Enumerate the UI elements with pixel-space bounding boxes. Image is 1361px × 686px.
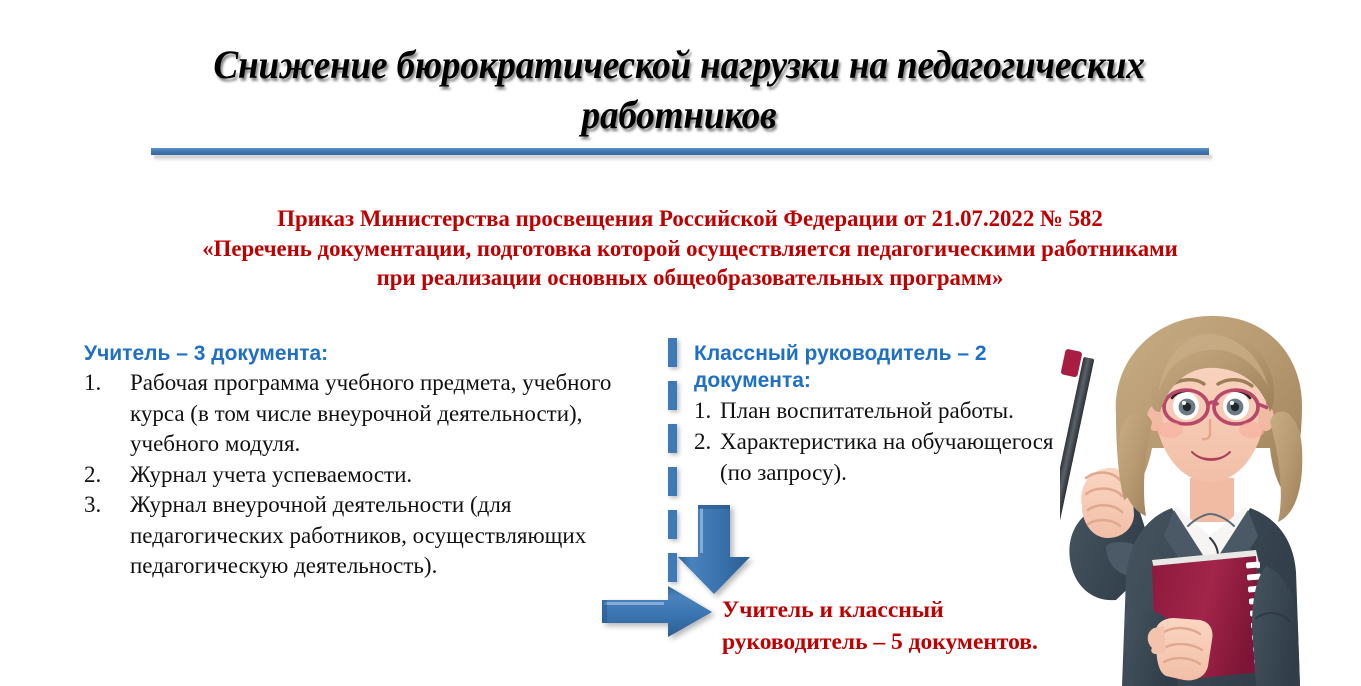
order-reference-subtitle: Приказ Министерства просвещения Российск… bbox=[118, 205, 1263, 294]
list-item-text: Журнал внеурочной деятельности (для педа… bbox=[130, 492, 586, 578]
list-item-number: 2. bbox=[84, 460, 112, 491]
title-divider-shadow bbox=[154, 155, 1212, 161]
list-item-number: 3. bbox=[84, 490, 112, 521]
list-item: 2. Характеристика на обучающегося (по за… bbox=[694, 426, 1066, 488]
list-item-number: 2. bbox=[694, 426, 711, 457]
page-title: Снижение бюрократической нагрузки на пед… bbox=[187, 40, 1171, 140]
class-teacher-column-heading: Классный руководитель – 2 документа: bbox=[694, 340, 1066, 394]
arrow-right-icon bbox=[602, 586, 714, 638]
title-divider bbox=[151, 148, 1209, 155]
list-item: 1. Рабочая программа учебного предмета, … bbox=[84, 368, 614, 460]
list-item: 1. План воспитательной работы. bbox=[694, 395, 1066, 426]
list-item: 2. Журнал учета успеваемости. bbox=[84, 460, 614, 491]
list-item-number: 1. bbox=[84, 368, 112, 399]
teacher-documents-list: 1. Рабочая программа учебного предмета, … bbox=[84, 368, 614, 582]
list-item-number: 1. bbox=[694, 395, 711, 426]
list-item-text: Журнал учета успеваемости. bbox=[130, 462, 412, 487]
list-item-text: Рабочая программа учебного предмета, уче… bbox=[130, 370, 611, 456]
list-item-text: Характеристика на обучающегося (по запро… bbox=[720, 429, 1054, 485]
teacher-documents-column: Учитель – 3 документа: 1. Рабочая програ… bbox=[84, 340, 614, 582]
class-teacher-documents-column: Классный руководитель – 2 документа: 1. … bbox=[694, 340, 1066, 488]
arrow-down-icon bbox=[676, 505, 752, 595]
teacher-illustration bbox=[1060, 310, 1361, 686]
class-teacher-documents-list: 1. План воспитательной работы. 2. Характ… bbox=[694, 395, 1066, 488]
teacher-column-heading: Учитель – 3 документа: bbox=[84, 340, 614, 367]
slide-canvas: Снижение бюрократической нагрузки на пед… bbox=[0, 0, 1361, 686]
list-item: 3. Журнал внеурочной деятельности (для п… bbox=[84, 490, 614, 582]
list-item-text: План воспитательной работы. bbox=[720, 398, 1014, 423]
